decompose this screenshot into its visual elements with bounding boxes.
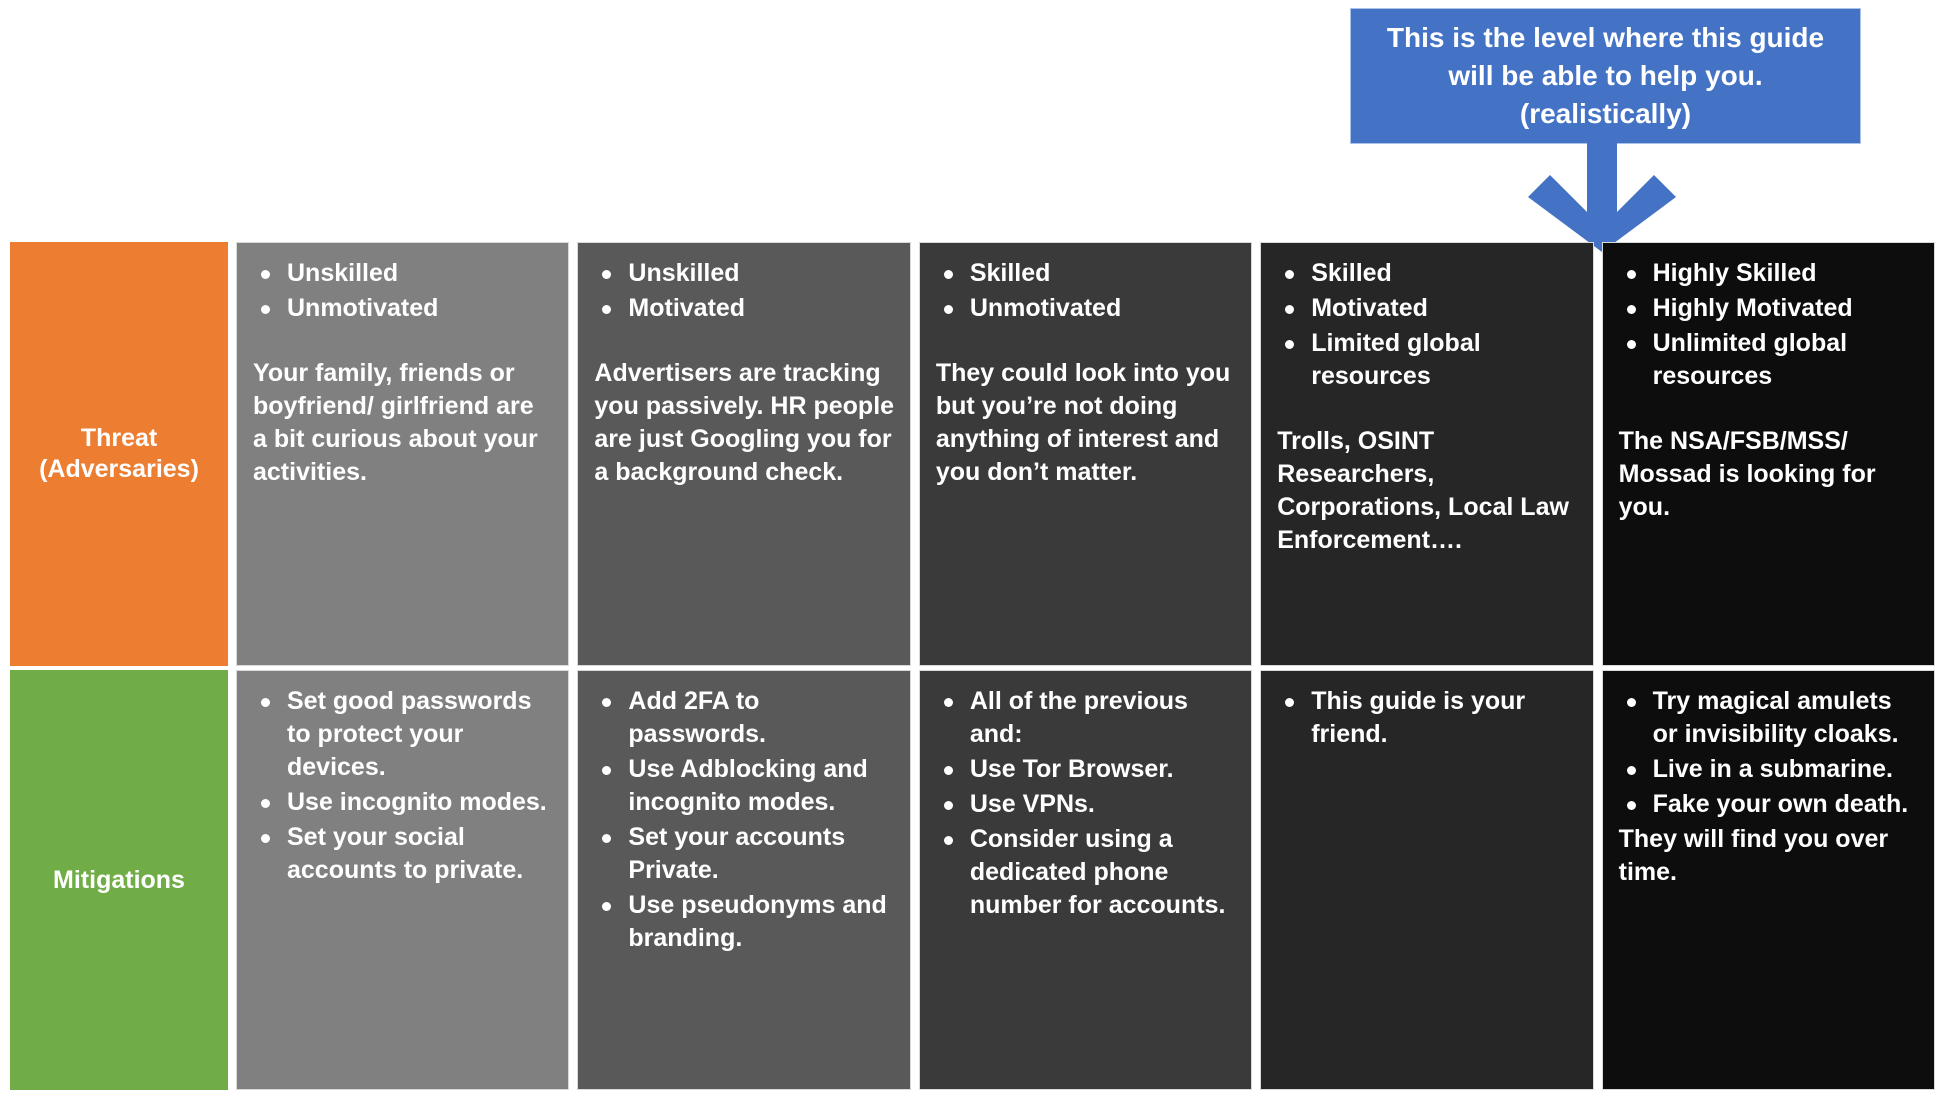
list-item: Try magical amulets or invisibility cloa… — [1653, 685, 1920, 751]
threat-paragraph-4: Trolls, OSINT Researchers, Corporations,… — [1277, 425, 1578, 557]
row-label-mitigations-line1: Mitigations — [53, 865, 185, 896]
list-item: Unlimited global resources — [1653, 327, 1920, 393]
list-item: Fake your own death. — [1653, 788, 1920, 821]
list-item: Skilled — [970, 257, 1237, 290]
threat-paragraph-3: They could look into you but you’re not … — [936, 357, 1237, 489]
mitigations-cell-2: Add 2FA to passwords. Use Adblocking and… — [577, 670, 910, 1090]
threat-paragraph-5: The NSA/FSB/MSS/ Mossad is looking for y… — [1619, 425, 1920, 524]
threat-paragraph-1: Your family, friends or boyfriend/ girlf… — [253, 357, 554, 489]
callout-line-3: (realistically) — [1361, 95, 1850, 133]
list-item: Unskilled — [287, 257, 554, 290]
list-item: Set your social accounts to private. — [287, 821, 554, 887]
list-item: Consider using a dedicated phone number … — [970, 823, 1237, 922]
threat-cell-1: Unskilled Unmotivated Your family, frien… — [236, 242, 569, 666]
list-item: Use pseudonyms and branding. — [628, 889, 895, 955]
mitigations-bullets-4: This guide is your friend. — [1277, 685, 1578, 751]
mitigations-cell-3: All of the previous and: Use Tor Browser… — [919, 670, 1252, 1090]
list-item: Motivated — [1311, 292, 1578, 325]
threat-row: Threat (Adversaries) Unskilled Unmotivat… — [10, 242, 1935, 666]
mitigations-row: Mitigations Set good passwords to protec… — [10, 670, 1935, 1090]
list-item: Use incognito modes. — [287, 786, 554, 819]
row-label-threat-line1: Threat — [39, 423, 199, 454]
list-item: Skilled — [1311, 257, 1578, 290]
list-item: Unskilled — [628, 257, 895, 290]
down-arrow-icon — [1528, 142, 1676, 252]
row-label-threat: Threat (Adversaries) — [10, 242, 228, 666]
guide-level-callout: This is the level where this guide will … — [1350, 8, 1861, 144]
list-item: Motivated — [628, 292, 895, 325]
list-item: Use Tor Browser. — [970, 753, 1237, 786]
list-item: Set your accounts Private. — [628, 821, 895, 887]
threat-cell-3: Skilled Unmotivated They could look into… — [919, 242, 1252, 666]
list-item: Unmotivated — [287, 292, 554, 325]
list-item: Limited global resources — [1311, 327, 1578, 393]
row-label-mitigations: Mitigations — [10, 670, 228, 1090]
threat-cell-2: Unskilled Motivated Advertisers are trac… — [577, 242, 910, 666]
list-item: Add 2FA to passwords. — [628, 685, 895, 751]
callout-line-1: This is the level where this guide — [1361, 19, 1850, 57]
list-item: This guide is your friend. — [1311, 685, 1578, 751]
threat-cell-4: Skilled Motivated Limited global resourc… — [1260, 242, 1593, 666]
mitigations-bullets-2: Add 2FA to passwords. Use Adblocking and… — [594, 685, 895, 955]
list-item: Use VPNs. — [970, 788, 1237, 821]
list-item: Use Adblocking and incognito modes. — [628, 753, 895, 819]
threat-bullets-1: Unskilled Unmotivated — [253, 257, 554, 325]
list-item: Highly Skilled — [1653, 257, 1920, 290]
threat-cell-5: Highly Skilled Highly Motivated Unlimite… — [1602, 242, 1935, 666]
threat-bullets-2: Unskilled Motivated — [594, 257, 895, 325]
threat-bullets-4: Skilled Motivated Limited global resourc… — [1277, 257, 1578, 393]
mitigations-cell-4: This guide is your friend. — [1260, 670, 1593, 1090]
threat-model-matrix: Threat (Adversaries) Unskilled Unmotivat… — [10, 242, 1935, 1090]
row-label-threat-line2: (Adversaries) — [39, 454, 199, 485]
list-item: All of the previous and: — [970, 685, 1237, 751]
mitigations-bullets-1: Set good passwords to protect your devic… — [253, 685, 554, 887]
threat-bullets-3: Skilled Unmotivated — [936, 257, 1237, 325]
callout-line-2: will be able to help you. — [1361, 57, 1850, 95]
mitigations-cell-5: Try magical amulets or invisibility cloa… — [1602, 670, 1935, 1090]
threat-paragraph-2: Advertisers are tracking you passively. … — [594, 357, 895, 489]
mitigations-cell-1: Set good passwords to protect your devic… — [236, 670, 569, 1090]
list-item: Highly Motivated — [1653, 292, 1920, 325]
list-item: Set good passwords to protect your devic… — [287, 685, 554, 784]
mitigations-bullets-5: Try magical amulets or invisibility cloa… — [1619, 685, 1920, 821]
list-item: Live in a submarine. — [1653, 753, 1920, 786]
list-item: Unmotivated — [970, 292, 1237, 325]
mitigations-paragraph-5: They will find you over time. — [1619, 823, 1920, 889]
mitigations-bullets-3: All of the previous and: Use Tor Browser… — [936, 685, 1237, 922]
threat-bullets-5: Highly Skilled Highly Motivated Unlimite… — [1619, 257, 1920, 393]
